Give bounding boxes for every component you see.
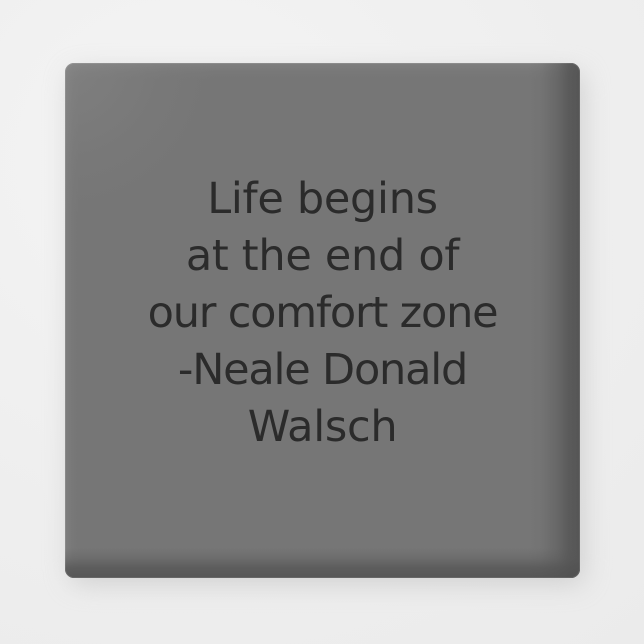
magnet-bevel-top-highlight — [65, 63, 580, 79]
product-stage: Life begins at the end of our comfort zo… — [0, 0, 644, 644]
magnet-bevel-bottom-shade — [65, 548, 580, 578]
quote-line-4-attribution: -Neale Donald — [75, 342, 570, 399]
square-magnet[interactable]: Life begins at the end of our comfort zo… — [65, 63, 580, 578]
quote-line-1: Life begins — [75, 171, 570, 228]
quote-line-2: at the end of — [75, 228, 570, 285]
quote-line-5-attribution: Walsch — [75, 399, 570, 456]
quote-text-block: Life begins at the end of our comfort zo… — [65, 171, 580, 456]
quote-line-3: our comfort zone — [75, 285, 570, 342]
